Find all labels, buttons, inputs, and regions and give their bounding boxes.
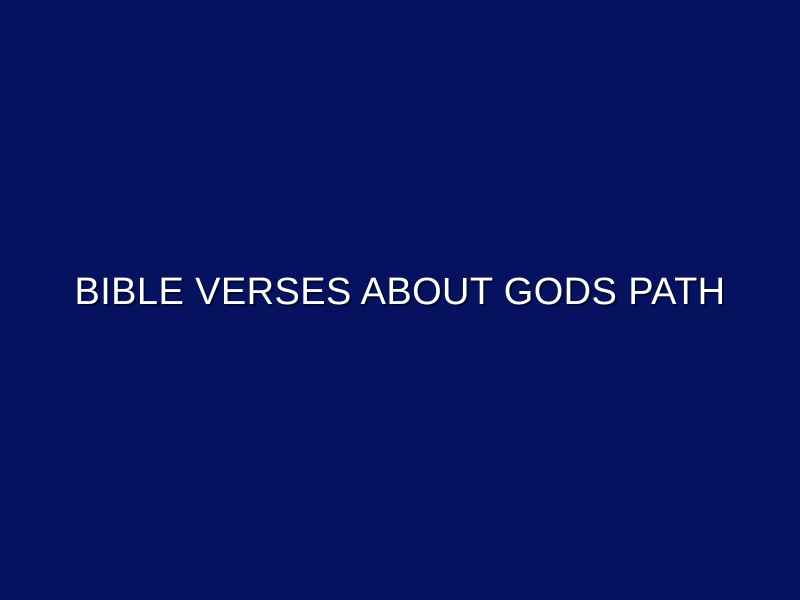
page-title: BIBLE VERSES ABOUT GODS PATH — [50, 271, 749, 314]
title-banner: BIBLE VERSES ABOUT GODS PATH — [0, 0, 800, 600]
